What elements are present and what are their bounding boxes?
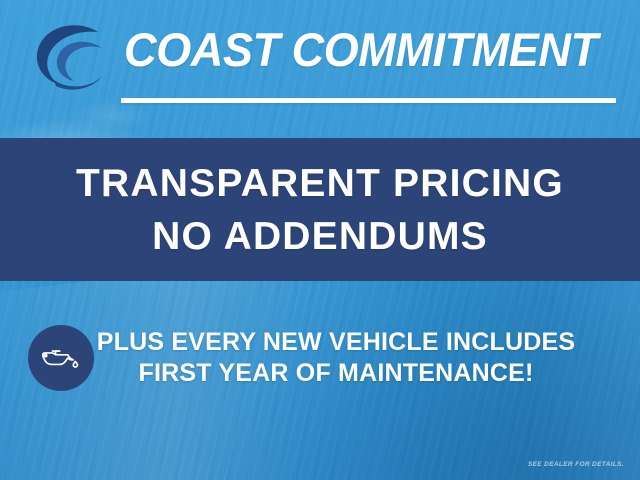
banner-header: COAST COMMITMENT (0, 0, 640, 138)
oil-can-icon (40, 342, 82, 375)
disclaimer-text: SEE DEALER FOR DETAILS. (528, 461, 624, 468)
offer-row: PLUS EVERY NEW VEHICLE INCLUDES FIRST YE… (0, 325, 640, 391)
headline-line-1: TRANSPARENT PRICING (76, 157, 564, 210)
title-divider (121, 98, 616, 103)
page-title: COAST COMMITMENT (124, 24, 604, 76)
oil-can-badge (28, 325, 94, 391)
offer-line-2: FIRST YEAR OF MAINTENANCE! (94, 358, 578, 389)
offer-text: PLUS EVERY NEW VEHICLE INCLUDES FIRST YE… (94, 327, 640, 389)
headline-line-2: NO ADDENDUMS (152, 210, 488, 263)
coast-commitment-banner: COAST COMMITMENT TRANSPARENT PRICING NO … (0, 0, 640, 480)
headline-band: TRANSPARENT PRICING NO ADDENDUMS (0, 138, 640, 281)
offer-line-1: PLUS EVERY NEW VEHICLE INCLUDES (94, 327, 578, 358)
coast-wave-swirl-icon (24, 18, 120, 98)
